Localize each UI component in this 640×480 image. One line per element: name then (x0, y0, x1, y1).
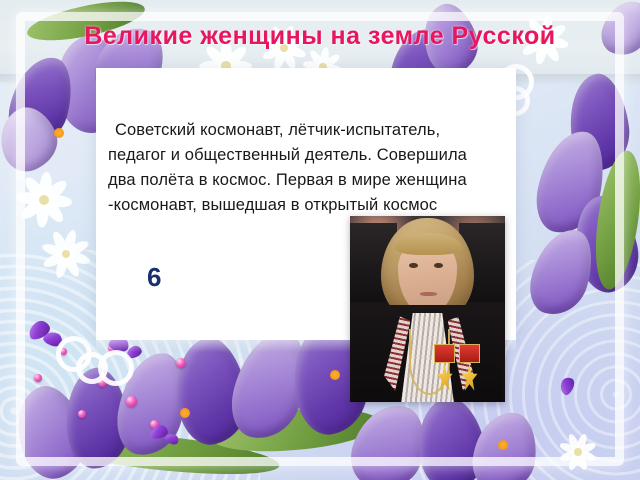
presentation-slide: Великие женщины на земле Русской Советск… (0, 0, 640, 480)
medal-ribbon-bar (434, 344, 456, 362)
body-line-1: Советский космонавт, лётчик-испытатель, (108, 118, 506, 143)
medal-ribbon-bar (459, 344, 481, 362)
body-line-4: -космонавт, вышедшая в открытый космос (108, 193, 506, 218)
portrait-photo (350, 216, 505, 402)
slide-number: 6 (147, 262, 161, 293)
body-text: Советский космонавт, лётчик-испытатель, … (108, 118, 506, 218)
hero-star-medal (434, 344, 456, 392)
body-line-3: два полёта в космос. Первая в мире женщи… (108, 168, 506, 193)
body-line-2: педагог и общественный деятель. Совершил… (108, 143, 506, 168)
page-title: Великие женщины на земле Русской (0, 22, 640, 51)
medal-star (462, 364, 478, 392)
medal-star (437, 364, 453, 392)
hero-star-medal (459, 344, 481, 392)
subject-eye-left (409, 263, 418, 269)
subject-eye-right (434, 263, 443, 269)
